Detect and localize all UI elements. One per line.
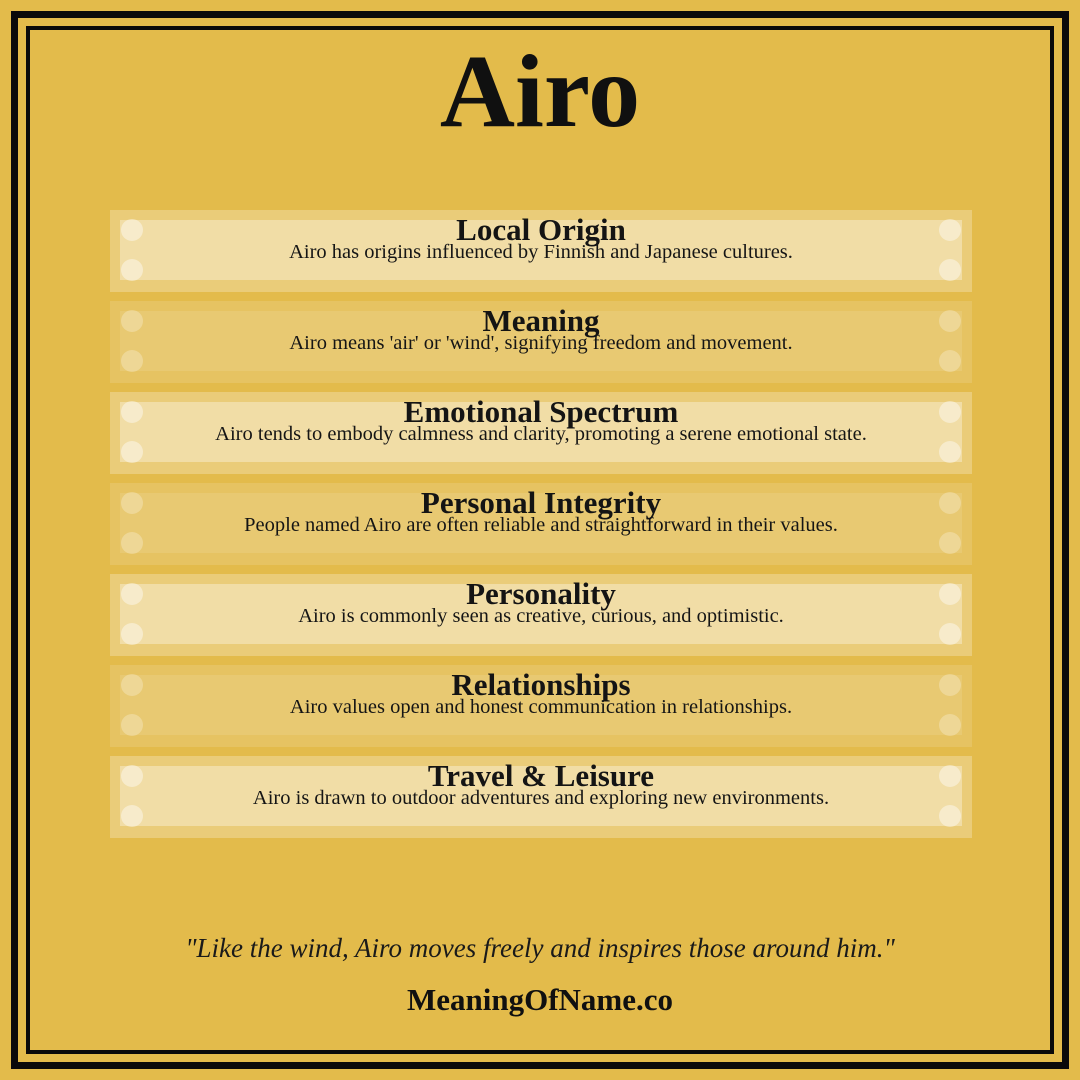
attribute-description: Airo values open and honest communicatio… xyxy=(110,697,972,718)
attribute-card-text: Personal IntegrityPeople named Airo are … xyxy=(110,486,972,536)
attribute-card-text: Local OriginAiro has origins influenced … xyxy=(110,213,972,263)
attribute-card-text: RelationshipsAiro values open and honest… xyxy=(110,668,972,718)
attribute-card: RelationshipsAiro values open and honest… xyxy=(110,665,972,747)
attribute-description: Airo is commonly seen as creative, curio… xyxy=(110,606,972,627)
attribute-card: Local OriginAiro has origins influenced … xyxy=(110,210,972,292)
attribute-card: PersonalityAiro is commonly seen as crea… xyxy=(110,574,972,656)
attribute-description: Airo has origins influenced by Finnish a… xyxy=(110,242,972,263)
page-title: Airo xyxy=(0,34,1080,150)
attribute-card-text: Emotional SpectrumAiro tends to embody c… xyxy=(110,395,972,445)
tagline-quote: "Like the wind, Airo moves freely and in… xyxy=(0,933,1080,964)
attribute-card-list: Local OriginAiro has origins influenced … xyxy=(110,210,972,847)
site-branding: MeaningOfName.co xyxy=(0,982,1080,1018)
attribute-card: Travel & LeisureAiro is drawn to outdoor… xyxy=(110,756,972,838)
name-profile-card: Airo Local OriginAiro has origins influe… xyxy=(0,0,1080,1080)
attribute-description: Airo means 'air' or 'wind', signifying f… xyxy=(110,333,972,354)
attribute-description: People named Airo are often reliable and… xyxy=(110,515,972,536)
attribute-description: Airo is drawn to outdoor adventures and … xyxy=(110,788,972,809)
attribute-card-text: MeaningAiro means 'air' or 'wind', signi… xyxy=(110,304,972,354)
attribute-card: MeaningAiro means 'air' or 'wind', signi… xyxy=(110,301,972,383)
attribute-card-text: Travel & LeisureAiro is drawn to outdoor… xyxy=(110,759,972,809)
attribute-card-text: PersonalityAiro is commonly seen as crea… xyxy=(110,577,972,627)
attribute-card: Personal IntegrityPeople named Airo are … xyxy=(110,483,972,565)
attribute-description: Airo tends to embody calmness and clarit… xyxy=(110,424,972,445)
attribute-card: Emotional SpectrumAiro tends to embody c… xyxy=(110,392,972,474)
